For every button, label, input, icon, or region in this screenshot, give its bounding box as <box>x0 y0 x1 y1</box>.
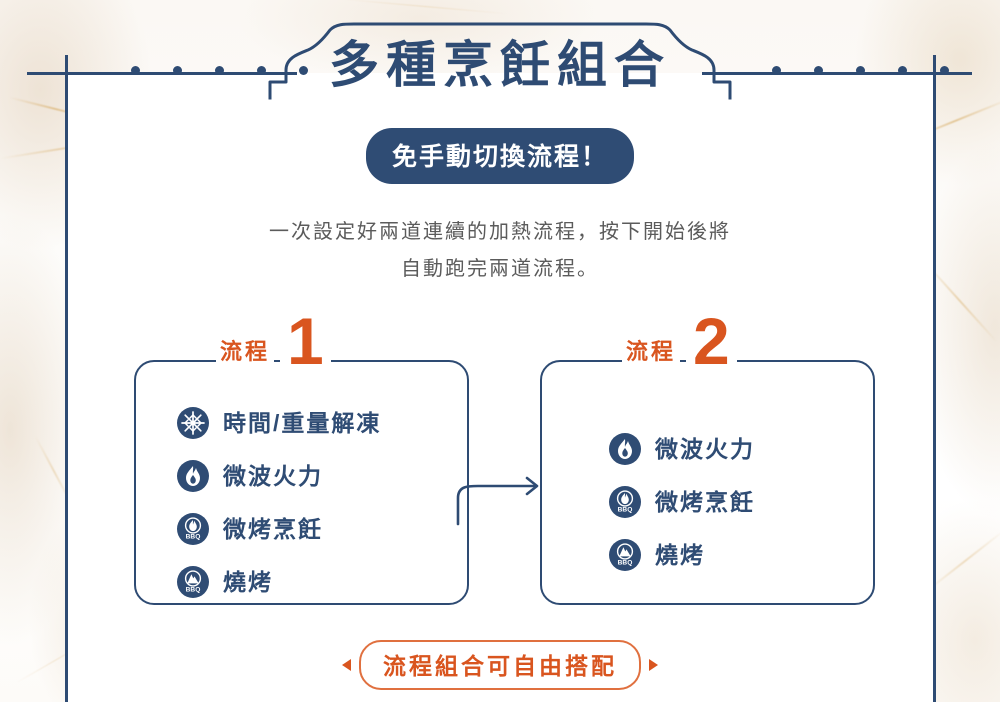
flow-2-number: 2 <box>686 316 737 367</box>
infographic-canvas: 多種烹飪組合 免手動切換流程！ 一次設定好兩道連續的加熱流程，按下開始後將 自動… <box>0 0 1000 702</box>
triangle-right-icon <box>649 659 658 671</box>
list-item: BBQ 燒烤 <box>608 538 755 572</box>
footer-note: 流程組合可自由搭配 <box>342 640 658 690</box>
bbq-label: BBQ <box>618 560 633 567</box>
bbq-flame-icon: BBQ <box>608 485 642 519</box>
list-item: 微波火力 <box>176 459 381 493</box>
flame-icon <box>176 459 210 493</box>
triangle-left-icon <box>342 659 351 671</box>
description-text: 一次設定好兩道連續的加熱流程，按下開始後將 自動跑完兩道流程。 <box>0 214 1000 288</box>
list-item: 時間/重量解凍 <box>176 406 381 440</box>
bbq-grill-icon: BBQ <box>608 538 642 572</box>
list-item: BBQ 微烤烹飪 <box>608 485 755 519</box>
bbq-flame-icon: BBQ <box>176 512 210 546</box>
list-item-label: 燒烤 <box>655 544 705 567</box>
snowflake-icon <box>176 406 210 440</box>
bbq-grill-icon: BBQ <box>176 565 210 599</box>
frame-line-right <box>933 55 936 702</box>
page-title: 多種烹飪組合 <box>0 40 1000 90</box>
bbq-label: BBQ <box>186 534 201 541</box>
list-item-label: 微波火力 <box>655 438 755 461</box>
list-item: BBQ 微烤烹飪 <box>176 512 381 546</box>
flow-1-tag: 流程 1 <box>216 316 331 367</box>
list-item: BBQ 燒烤 <box>176 565 381 599</box>
list-item-label: 微烤烹飪 <box>223 518 323 541</box>
flow-2-item-list: 微波火力 BBQ 微烤烹飪 BBQ <box>608 432 755 572</box>
flame-icon <box>608 432 642 466</box>
list-item-label: 微烤烹飪 <box>655 491 755 514</box>
list-item-label: 時間/重量解凍 <box>223 412 381 435</box>
frame-line-left <box>65 55 68 702</box>
footer-note-label: 流程組合可自由搭配 <box>359 640 641 690</box>
bbq-label: BBQ <box>186 587 201 594</box>
flow-1-label: 流程 <box>216 341 274 367</box>
list-item-label: 燒烤 <box>223 571 273 594</box>
flow-2-label: 流程 <box>622 341 680 367</box>
description-line-1: 一次設定好兩道連續的加熱流程，按下開始後將 <box>0 214 1000 251</box>
flow-1-number: 1 <box>280 316 331 367</box>
bbq-label: BBQ <box>618 507 633 514</box>
list-item: 微波火力 <box>608 432 755 466</box>
description-line-2: 自動跑完兩道流程。 <box>0 251 1000 288</box>
flow-2-tag: 流程 2 <box>622 316 737 367</box>
list-item-label: 微波火力 <box>223 465 323 488</box>
flow-1-item-list: 時間/重量解凍 微波火力 BBQ 微烤烹飪 <box>176 406 381 599</box>
subtitle-badge: 免手動切換流程！ <box>366 128 634 184</box>
